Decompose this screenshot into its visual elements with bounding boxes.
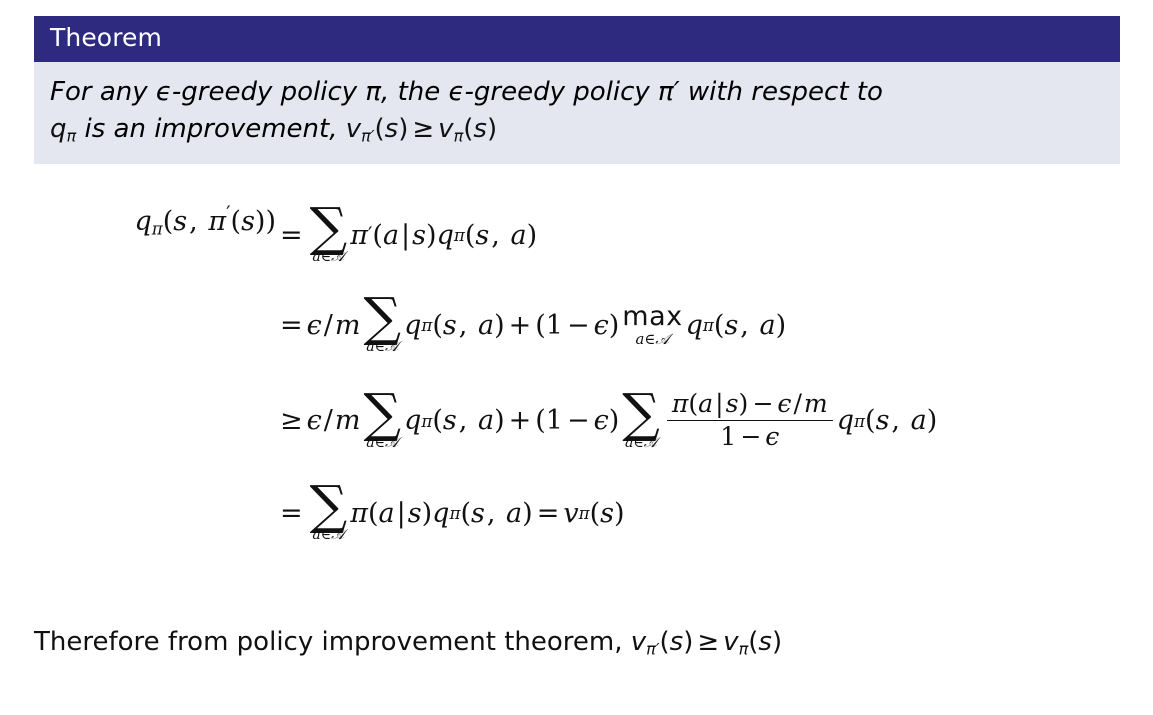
sum-limit-2: a∈𝒜 <box>366 340 398 354</box>
sum-icon: ∑ <box>310 206 348 249</box>
relation-equals-4: = <box>276 498 307 529</box>
summation-2: ∑ a∈𝒜 <box>363 296 401 354</box>
theorem-statement-rest: is an improvement, <box>84 114 337 144</box>
summation-4: ∑ a∈𝒜 <box>310 484 348 542</box>
equation-1-rhs: = ∑ a∈𝒜 π′(a|s)qπ(s, a) <box>276 206 537 264</box>
summation-3a: ∑ a∈𝒜 <box>363 392 401 450</box>
equation-row-4: = ∑ a∈𝒜 π(a|s)qπ(s, a) = vπ(s) <box>34 484 1120 578</box>
fraction-3: π(a|s)−ϵ/m 1−ϵ <box>667 390 833 451</box>
summation-1: ∑ a∈𝒜 <box>310 206 348 264</box>
conclusion-inequality: vπ′(s)≥vπ(s) <box>631 627 782 657</box>
equation-4-rhs: = ∑ a∈𝒜 π(a|s)qπ(s, a) = vπ(s) <box>276 484 625 542</box>
equation-row-1: qπ(s, π′(s)) = ∑ a∈𝒜 π′(a|s)qπ(s, a) <box>34 206 1120 296</box>
theorem-header-bar: Theorem <box>34 16 1120 62</box>
theorem-statement-line-2: qπ is an improvement, vπ′(s)≥vπ(s) <box>50 111 1104 148</box>
sum-icon: ∑ <box>363 296 401 339</box>
equation-row-2: = ϵ/m ∑ a∈𝒜 qπ(s, a) + (1−ϵ) max a∈𝒜 qπ(… <box>34 296 1120 390</box>
operator-plus-2: + <box>505 310 536 341</box>
theorem-block: Theorem For any ϵ-greedy policy π, the ϵ… <box>34 16 1120 164</box>
sum-limit-3b: a∈𝒜 <box>625 436 657 450</box>
conclusion-line: Therefore from policy improvement theore… <box>34 627 782 657</box>
conclusion-text: Therefore from policy improvement theore… <box>34 627 623 657</box>
equation-row-3: ≥ ϵ/m ∑ a∈𝒜 qπ(s, a) + (1−ϵ) ∑ a∈𝒜 π(a|s… <box>34 390 1120 484</box>
theorem-body: For any ϵ-greedy policy π, the ϵ-greedy … <box>34 62 1120 164</box>
operator-plus-3: + <box>505 405 536 436</box>
fraction-numerator: π(a|s)−ϵ/m <box>667 390 833 421</box>
derivation-block: qπ(s, π′(s)) = ∑ a∈𝒜 π′(a|s)qπ(s, a) = ϵ… <box>34 206 1120 578</box>
theorem-statement-text: For any ϵ-greedy policy π, the ϵ-greedy … <box>50 77 883 107</box>
max-label: max <box>622 303 682 331</box>
sum-limit-3a: a∈𝒜 <box>366 436 398 450</box>
q-pi-symbol: qπ <box>50 114 76 144</box>
relation-geq-3: ≥ <box>276 405 307 436</box>
fraction-denominator: 1−ϵ <box>715 421 784 451</box>
equation-3-rhs: ≥ ϵ/m ∑ a∈𝒜 qπ(s, a) + (1−ϵ) ∑ a∈𝒜 π(a|s… <box>276 390 937 451</box>
theorem-title: Theorem <box>50 23 162 52</box>
sum-icon: ∑ <box>363 392 401 435</box>
relation-equals-2: = <box>276 310 307 341</box>
summation-3b: ∑ a∈𝒜 <box>622 392 660 450</box>
relation-equals-4b: = <box>533 498 564 529</box>
theorem-statement-line-1: For any ϵ-greedy policy π, the ϵ-greedy … <box>50 74 1104 111</box>
relation-equals-1: = <box>276 220 307 251</box>
max-limit: a∈𝒜 <box>635 332 669 347</box>
equation-1-lhs: qπ(s, π′(s)) <box>34 206 276 237</box>
max-operator: max a∈𝒜 <box>622 303 682 347</box>
sum-icon: ∑ <box>622 392 660 435</box>
sum-limit-4: a∈𝒜 <box>312 528 344 542</box>
sum-icon: ∑ <box>310 484 348 527</box>
equation-2-rhs: = ϵ/m ∑ a∈𝒜 qπ(s, a) + (1−ϵ) max a∈𝒜 qπ(… <box>276 296 786 354</box>
sum-limit-1: a∈𝒜 <box>312 250 344 264</box>
v-inequality-statement: vπ′(s)≥vπ(s) <box>346 114 497 144</box>
